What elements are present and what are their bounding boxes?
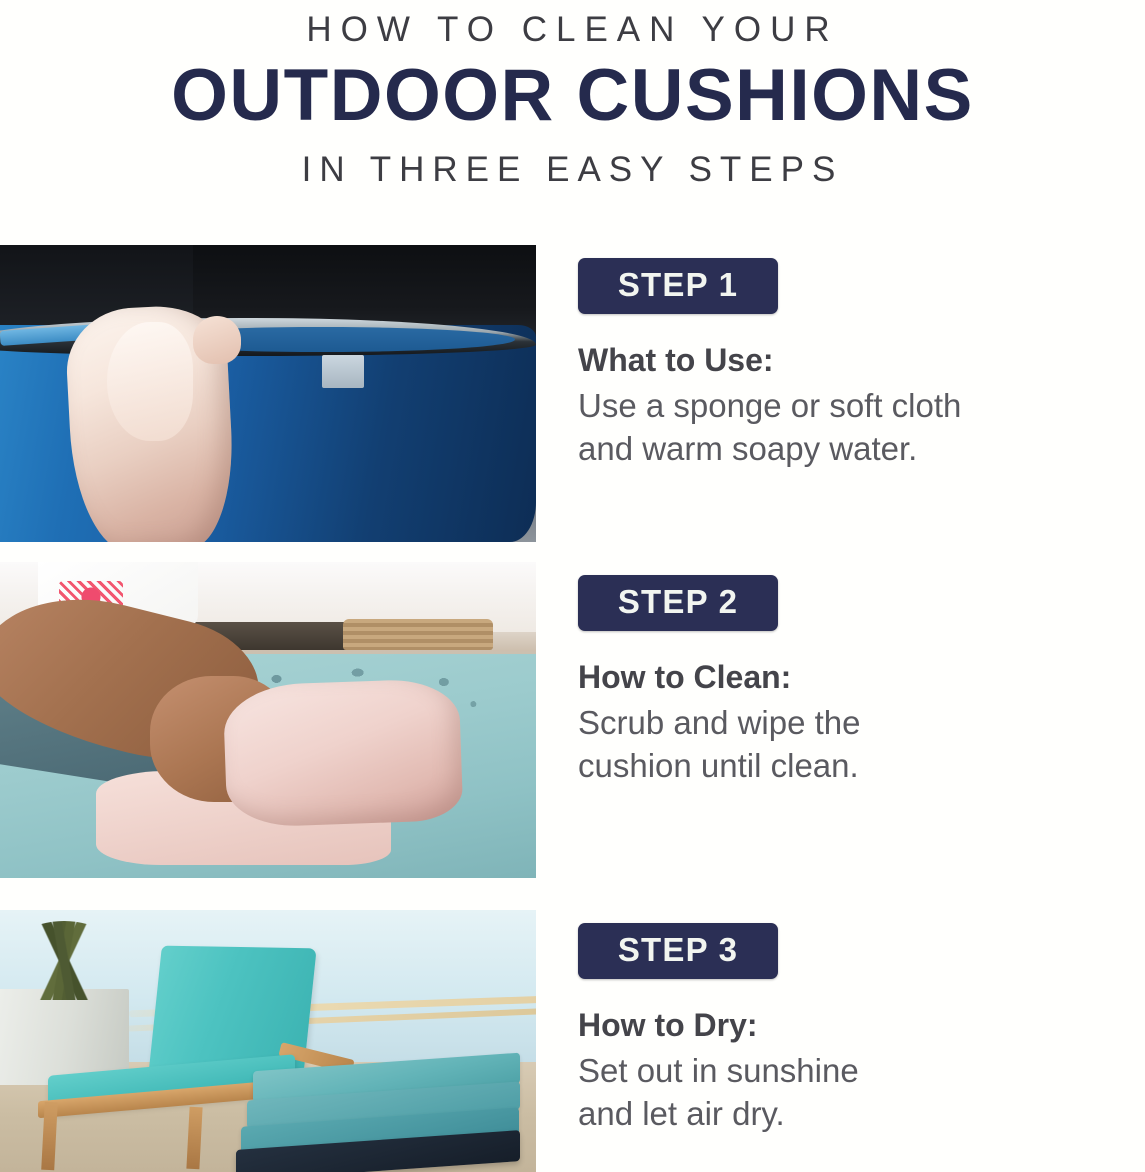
step-3-desc-line-1: Set out in sunshine xyxy=(578,1049,1138,1093)
step-row-3: STEP 3 How to Dry: Set out in sunshine a… xyxy=(0,910,1145,1172)
step-1-text: STEP 1 What to Use: Use a sponge or soft… xyxy=(578,258,1138,471)
cleaning-cloth xyxy=(223,678,464,828)
step-2-photo xyxy=(0,562,536,878)
step-row-1: STEP 1 What to Use: Use a sponge or soft… xyxy=(0,245,1145,542)
header-subkicker: In Three Easy Steps xyxy=(0,148,1145,192)
step-3-text: STEP 3 How to Dry: Set out in sunshine a… xyxy=(578,923,1138,1136)
hand-thumb xyxy=(193,316,241,364)
step-3-desc-line-2: and let air dry. xyxy=(578,1092,1138,1136)
step-2-desc-line-2: cushion until clean. xyxy=(578,744,1138,788)
step-2-text: STEP 2 How to Clean: Scrub and wipe the … xyxy=(578,575,1138,788)
step-1-lead: What to Use: xyxy=(578,342,1138,380)
step-1-description: Use a sponge or soft cloth and warm soap… xyxy=(578,384,1138,471)
steps-list: STEP 1 What to Use: Use a sponge or soft… xyxy=(0,245,1145,1172)
step-2-lead: How to Clean: xyxy=(578,659,1138,697)
step-3-description: Set out in sunshine and let air dry. xyxy=(578,1049,1138,1136)
infographic-page: How to Clean Your Outdoor Cushions In Th… xyxy=(0,0,1145,1172)
step-3-lead: How to Dry: xyxy=(578,1007,1138,1045)
page-title: Outdoor Cushions xyxy=(0,58,1145,135)
cloth-highlight xyxy=(107,322,193,441)
bucket-slot xyxy=(322,355,365,388)
wicker-basket xyxy=(343,619,493,651)
header-kicker: How to Clean Your xyxy=(0,8,1145,52)
agave-plant xyxy=(5,921,123,1000)
step-3-badge: STEP 3 xyxy=(578,923,778,979)
step-1-desc-line-1: Use a sponge or soft cloth xyxy=(578,384,1138,428)
step-1-desc-line-2: and warm soapy water. xyxy=(578,427,1138,471)
step-3-photo xyxy=(0,910,536,1172)
step-row-2: STEP 2 How to Clean: Scrub and wipe the … xyxy=(0,562,1145,878)
step-2-desc-line-1: Scrub and wipe the xyxy=(578,701,1138,745)
stacked-cushions xyxy=(241,1062,525,1172)
header: How to Clean Your Outdoor Cushions In Th… xyxy=(0,0,1145,192)
step-2-badge: STEP 2 xyxy=(578,575,778,631)
chaise-leg-rear xyxy=(186,1107,202,1170)
step-2-description: Scrub and wipe the cushion until clean. xyxy=(578,701,1138,788)
step-1-photo xyxy=(0,245,536,542)
step-1-badge: STEP 1 xyxy=(578,258,778,314)
